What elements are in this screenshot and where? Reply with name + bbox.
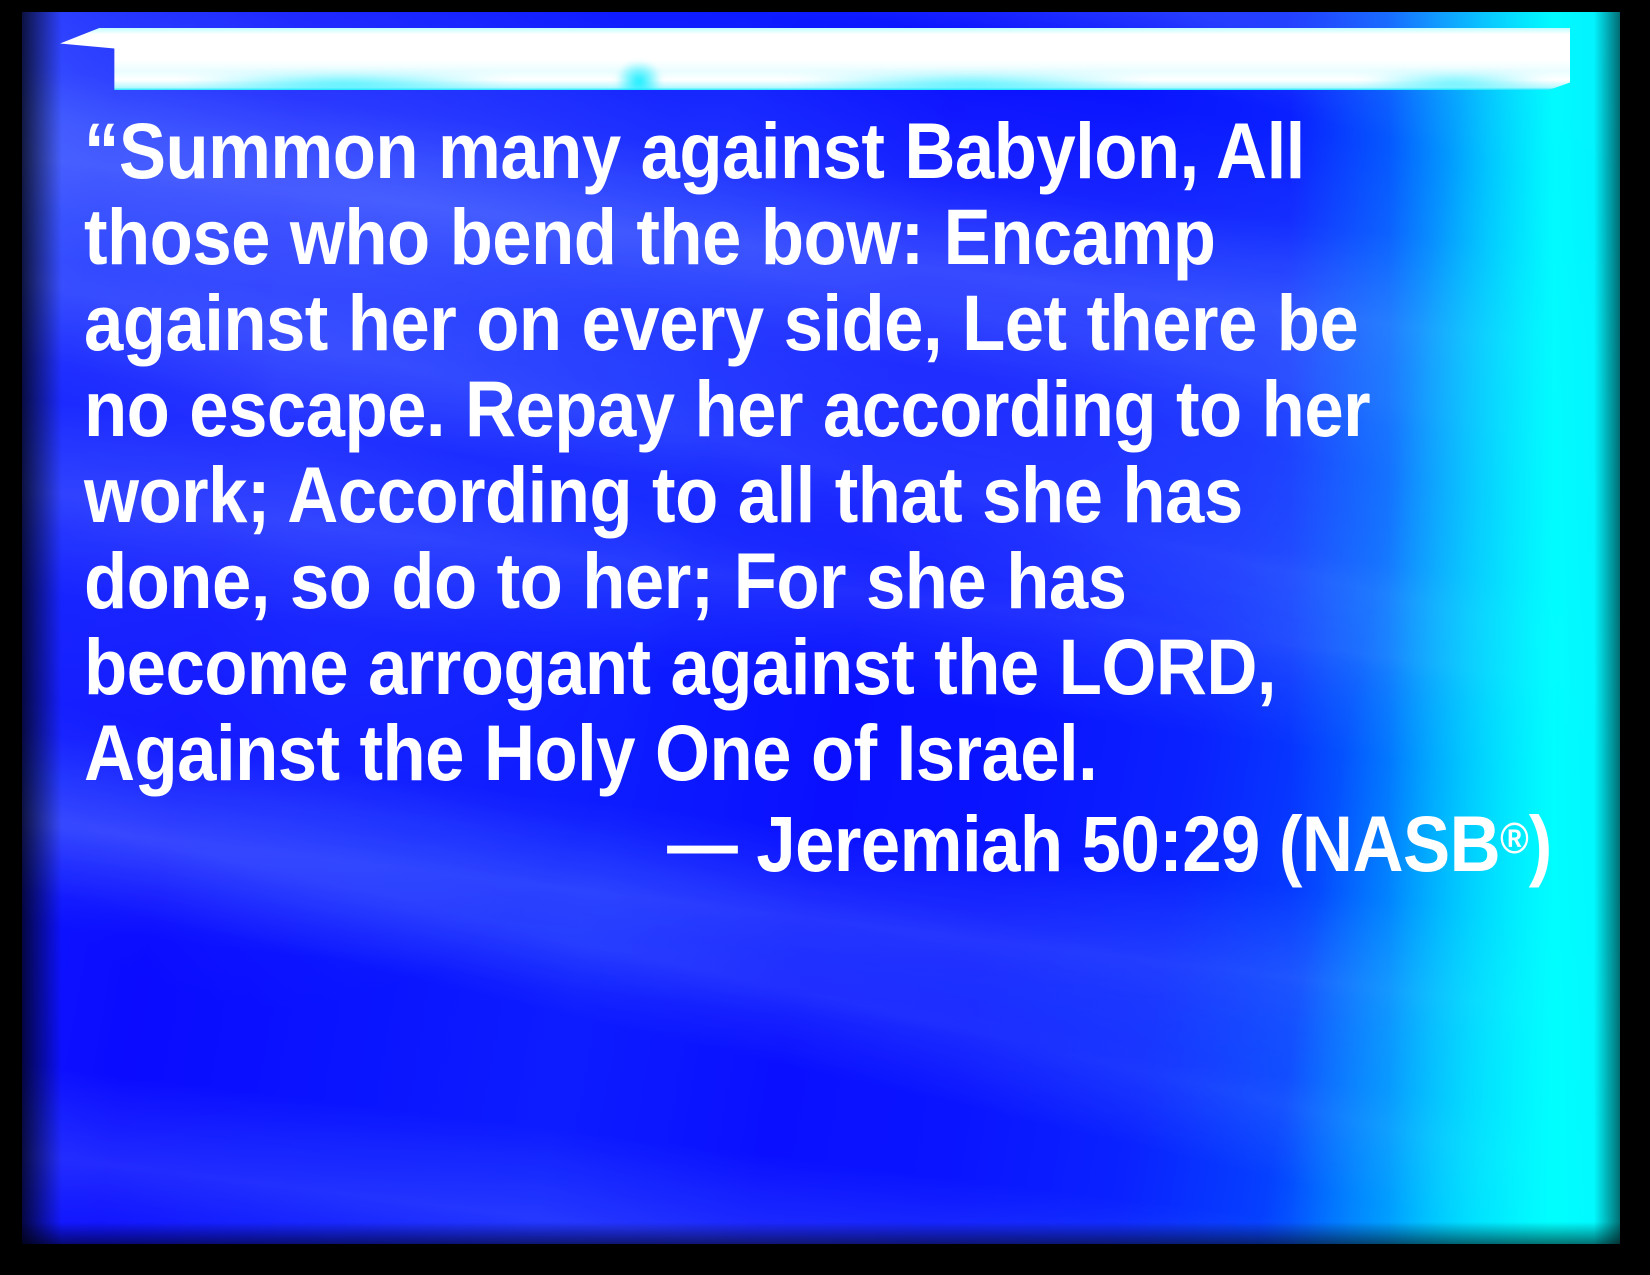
verse-reference-suffix: ) bbox=[1529, 799, 1552, 888]
verse-text: “Summon many against Babylon, All those … bbox=[84, 108, 1400, 796]
verse-reference-prefix: — Jeremiah 50:29 (NASB bbox=[667, 799, 1500, 888]
slide-stage: “Summon many against Babylon, All those … bbox=[22, 12, 1620, 1244]
banner-cyan-smudge-middle bbox=[790, 74, 1150, 92]
bible-verse-slide: “Summon many against Babylon, All those … bbox=[0, 0, 1650, 1275]
verse-reference: — Jeremiah 50:29 (NASB®) bbox=[84, 796, 1552, 887]
top-glow-banner bbox=[60, 28, 1570, 90]
banner-cyan-smudge-right bbox=[1360, 74, 1550, 90]
registered-trademark-icon: ® bbox=[1500, 815, 1529, 863]
banner-cyan-smudge-left bbox=[180, 74, 510, 92]
verse-block: “Summon many against Babylon, All those … bbox=[84, 108, 1554, 887]
